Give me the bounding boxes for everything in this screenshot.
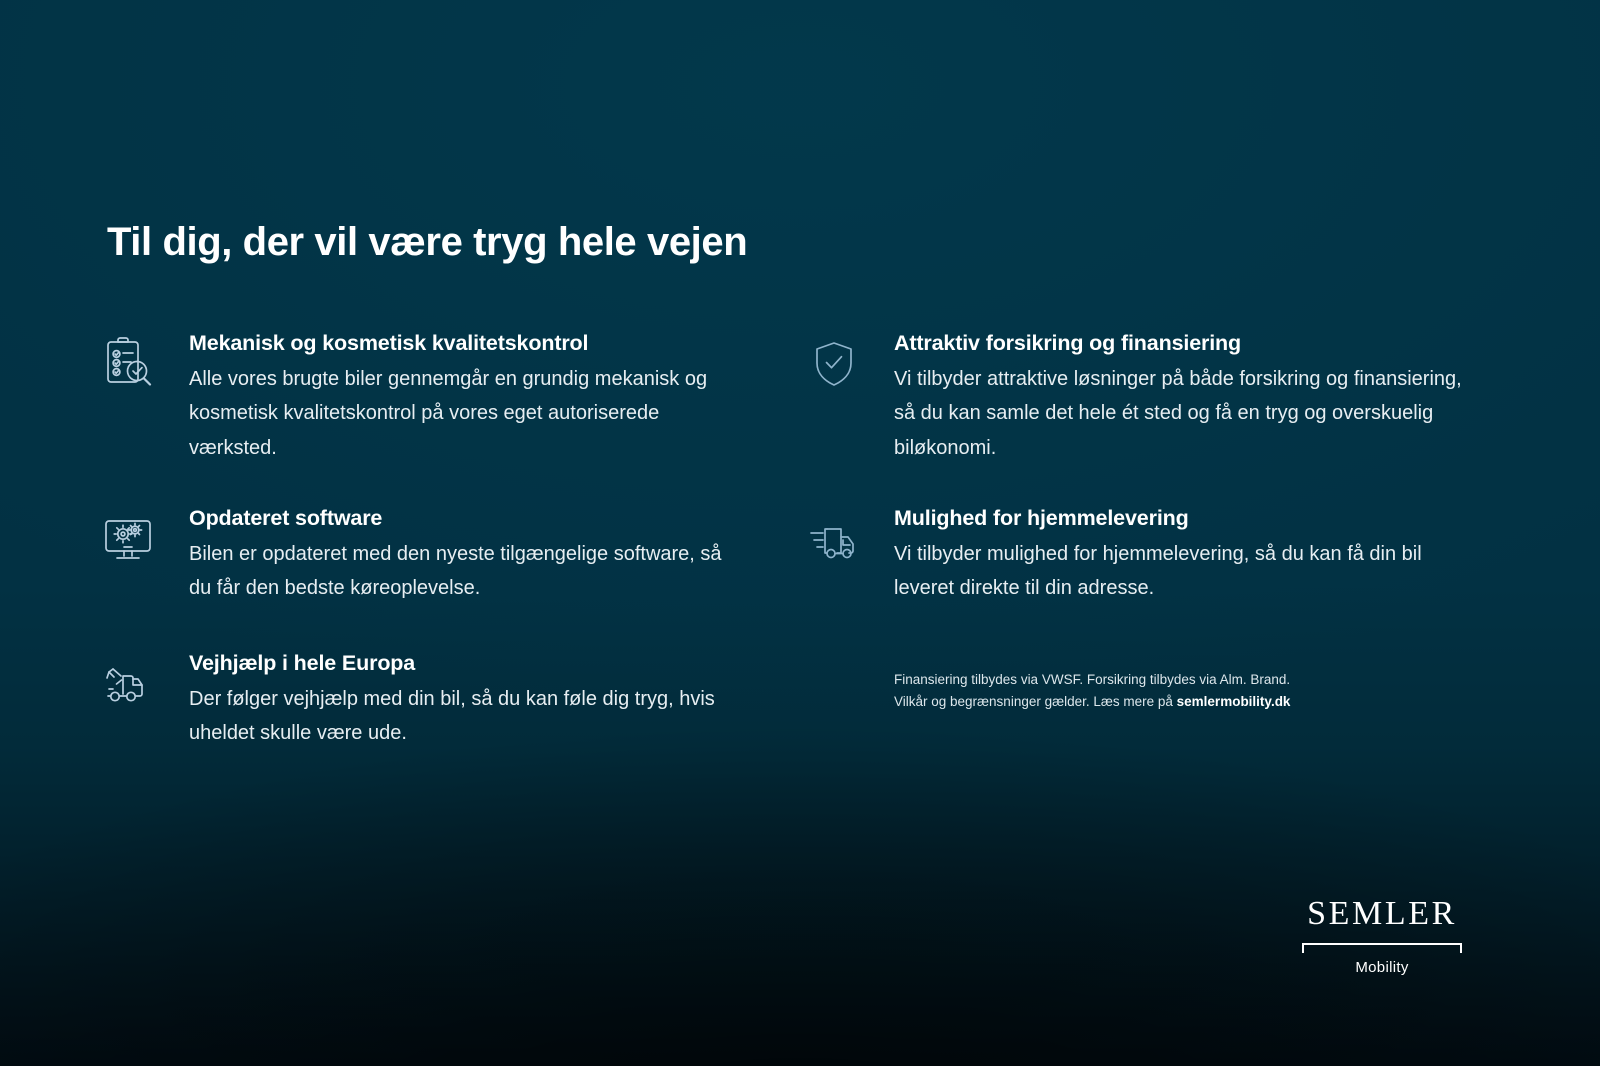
logo-divider-tick-right xyxy=(1460,943,1462,953)
delivery-truck-icon xyxy=(805,511,863,569)
shield-check-icon xyxy=(805,336,863,394)
feature-title: Mekanisk og kosmetisk kvalitetskontrol xyxy=(189,330,740,357)
features-column-right: Attraktiv forsikring og finansiering Vi … xyxy=(805,330,1485,648)
footnote-disclaimer: Finansiering tilbydes via VWSF. Forsikri… xyxy=(894,669,1414,713)
footnote-line-1: Finansiering tilbydes via VWSF. Forsikri… xyxy=(894,669,1414,691)
features-column-left: Mekanisk og kosmetisk kvalitetskontrol A… xyxy=(100,330,740,792)
tow-truck-icon xyxy=(100,654,158,712)
page-title: Til dig, der vil være tryg hele vejen xyxy=(107,220,747,265)
feature-updated-software: Opdateret software Bilen er opdateret me… xyxy=(100,505,740,606)
feature-description: Vi tilbyder mulighed for hjemmelevering,… xyxy=(894,537,1485,606)
feature-insurance-financing: Attraktiv forsikring og finansiering Vi … xyxy=(805,330,1485,465)
logo-subtitle: Mobility xyxy=(1302,960,1462,975)
semler-mobility-logo: SEMLER Mobility xyxy=(1302,897,1462,975)
feature-description: Vi tilbyder attraktive løsninger på både… xyxy=(894,362,1485,465)
feature-title: Mulighed for hjemmelevering xyxy=(894,505,1485,532)
feature-description: Bilen er opdateret med den nyeste tilgæn… xyxy=(189,537,740,606)
feature-title: Opdateret software xyxy=(189,505,740,532)
logo-divider-tick-left xyxy=(1302,943,1304,953)
feature-title: Vejhjælp i hele Europa xyxy=(189,650,740,677)
logo-divider xyxy=(1302,943,1462,954)
feature-quality-control: Mekanisk og kosmetisk kvalitetskontrol A… xyxy=(100,330,740,465)
feature-description: Alle vores brugte biler gennemgår en gru… xyxy=(189,362,740,465)
slide-content: Til dig, der vil være tryg hele vejen xyxy=(0,0,1600,1066)
semlermobility-link[interactable]: semlermobility.dk xyxy=(1177,694,1291,709)
slide-background: Til dig, der vil være tryg hele vejen xyxy=(0,0,1600,1066)
feature-home-delivery: Mulighed for hjemmelevering Vi tilbyder … xyxy=(805,505,1485,606)
footnote-line-2-text: Vilkår og begrænsninger gælder. Læs mere… xyxy=(894,694,1177,709)
feature-description: Der følger vejhjælp med din bil, så du k… xyxy=(189,682,740,751)
monitor-gears-icon xyxy=(100,509,158,567)
logo-wordmark: SEMLER xyxy=(1302,897,1462,931)
clipboard-check-magnifier-icon xyxy=(100,334,158,392)
feature-title: Attraktiv forsikring og finansiering xyxy=(894,330,1485,357)
feature-roadside-assistance: Vejhjælp i hele Europa Der følger vejhjæ… xyxy=(100,650,740,751)
footnote-line-2: Vilkår og begrænsninger gælder. Læs mere… xyxy=(894,691,1414,713)
